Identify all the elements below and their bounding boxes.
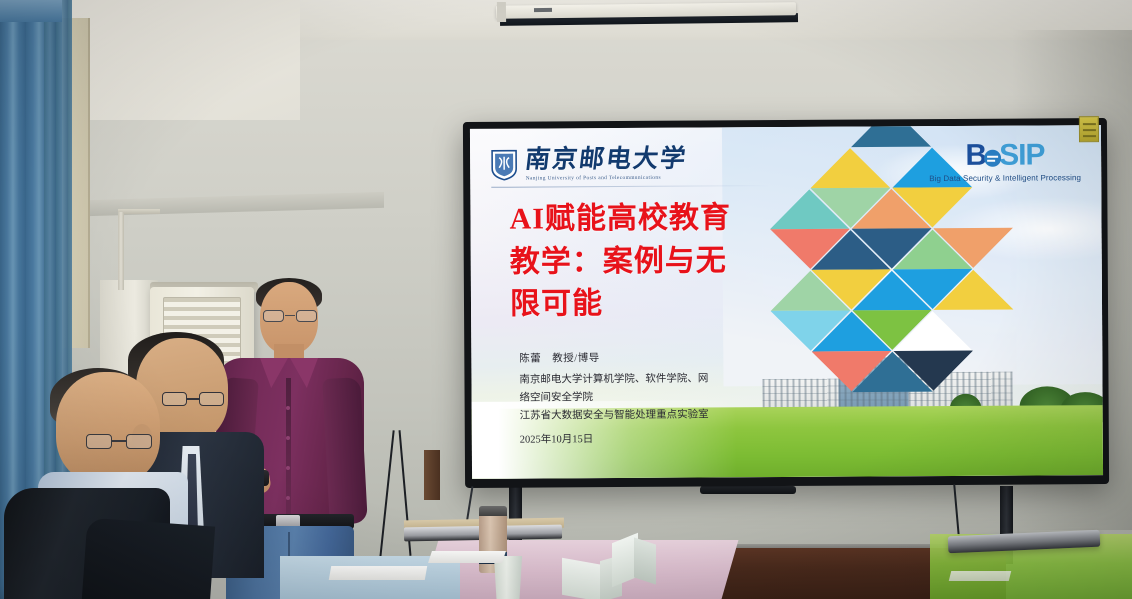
lab-logo-b: B: [965, 139, 986, 172]
lab-logo: BSIP Big Data Security & Intelligent Pro…: [929, 141, 1081, 184]
name-placard[interactable]: [634, 537, 656, 584]
glasses-lens-left: [86, 434, 112, 449]
audience-glasses-icon: [86, 434, 152, 449]
slide-title-line-1: AI赋能高校教育: [509, 197, 787, 241]
glasses-bridge: [112, 440, 126, 442]
audience-member-front: [20, 372, 200, 599]
conference-room-scene: 南京邮电大学 Nanjing University of Posts and T…: [0, 0, 1132, 599]
television-display[interactable]: 南京邮电大学 Nanjing University of Posts and T…: [463, 118, 1109, 488]
shirt-button: [286, 406, 290, 410]
shirt-button: [286, 436, 290, 440]
projector-screen-label: [534, 8, 552, 12]
university-wordmark-english: Nanjing University of Posts and Telecomm…: [526, 175, 688, 182]
tv-screen[interactable]: 南京邮电大学 Nanjing University of Posts and T…: [470, 125, 1103, 479]
curtain-rail: [0, 0, 62, 22]
vacuum-flask-cap[interactable]: [479, 506, 507, 516]
audience-jacket-shoulder: [81, 518, 215, 599]
glasses-lens-right: [296, 310, 317, 322]
tv-stand-bar: [700, 486, 796, 494]
glasses-lens-right: [126, 434, 152, 449]
presenter-affiliation-line-3: 江苏省大数据安全与智能处理重点实验室: [520, 407, 747, 426]
ac-pipe-horizontal: [118, 209, 160, 214]
projector-screen-bracket: [497, 2, 506, 22]
tv-sticker: [1079, 116, 1099, 142]
slide-title-line-2: 教学：案例与无: [510, 240, 788, 284]
university-crest-icon: [492, 149, 518, 181]
shirt-button: [286, 466, 290, 470]
university-wordmark: 南京邮电大学: [524, 147, 689, 173]
presentation-date: 2025年10月15日: [520, 431, 747, 450]
glasses-lens-left: [263, 310, 284, 322]
lab-logo-mark: BSIP: [929, 141, 1081, 172]
document-paper[interactable]: [428, 551, 506, 563]
lab-logo-tagline: Big Data Security & Intelligent Processi…: [929, 174, 1081, 184]
presenter-arm-right: [322, 377, 368, 525]
lab-logo-sip: SIP: [999, 139, 1045, 172]
document-paper[interactable]: [949, 571, 1011, 581]
document-paper[interactable]: [329, 566, 427, 580]
presenter-affiliation-line-2: 络空间安全学院: [519, 389, 746, 408]
glasses-lens-right: [199, 392, 224, 406]
presenter-name: 陈蕾 教授/博导: [519, 349, 746, 368]
presenter-glasses-icon: [262, 310, 318, 322]
presenter-affiliation-line-1: 南京邮电大学计算机学院、软件学院、网: [519, 371, 746, 390]
shirt-button: [286, 496, 290, 500]
presenter-info: 陈蕾 教授/博导 南京邮电大学计算机学院、软件学院、网 络空间安全学院 江苏省大…: [519, 349, 747, 450]
wooden-post: [424, 450, 440, 500]
slide-title-line-3: 限可能: [510, 282, 788, 326]
presentation-slide: 南京邮电大学 Nanjing University of Posts and T…: [470, 125, 1103, 479]
university-header: 南京邮电大学 Nanjing University of Posts and T…: [492, 147, 688, 182]
glasses-bridge: [285, 315, 295, 316]
slide-title: AI赋能高校教育 教学：案例与无 限可能: [509, 197, 787, 326]
ac-pipe-vertical: [118, 212, 124, 290]
